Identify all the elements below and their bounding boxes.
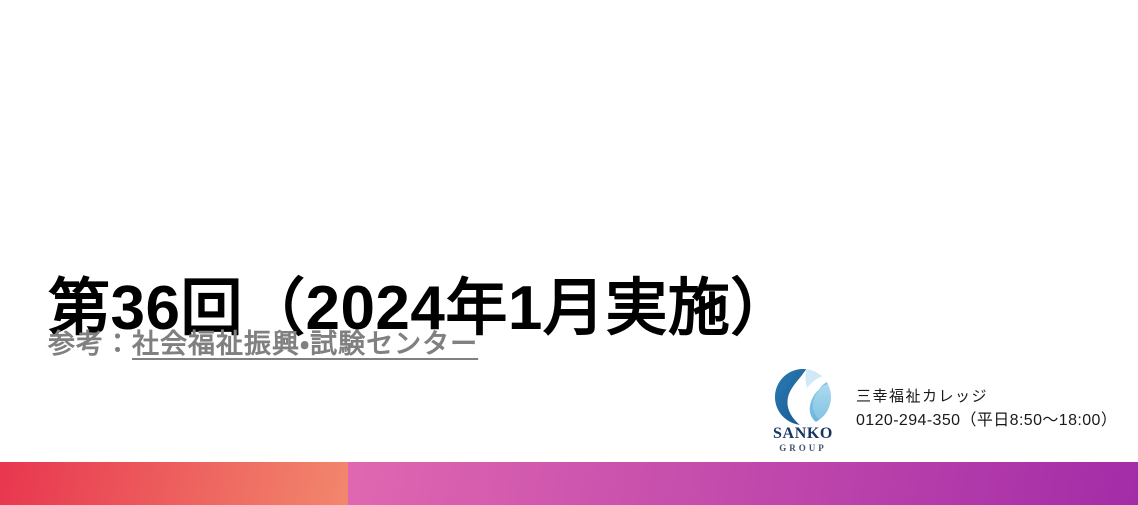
brand-wordmark-secondary: GROUP <box>762 444 844 453</box>
brand-wordmark-primary: SANKO <box>762 426 844 442</box>
brand-wordmark: SANKO GROUP <box>762 426 844 453</box>
slide-root: 第36回（2024年1月実施） 介護福祉士国家試験 試験情報 参考：社会福祉振興… <box>0 0 1138 505</box>
reference-line: 参考：社会福祉振興・試験センター <box>48 322 478 361</box>
brand-logo: SANKO GROUP <box>762 368 844 452</box>
brand-phone: 0120-294-350（平日8:50〜18:00） <box>856 409 1117 432</box>
reference-label: 参考： <box>48 329 132 359</box>
accent-bar-segment-red-orange <box>0 462 348 505</box>
accent-bar-segment-pink-purple <box>348 462 1138 505</box>
accent-bar <box>0 462 1138 505</box>
brand-contact: 三幸福祉カレッジ 0120-294-350（平日8:50〜18:00） <box>856 368 1117 432</box>
reference-source-link[interactable]: 社会福祉振興・試験センター <box>132 329 478 359</box>
brand-block: SANKO GROUP 三幸福祉カレッジ 0120-294-350（平日8:50… <box>762 368 1117 452</box>
brand-name: 三幸福祉カレッジ <box>856 386 1117 409</box>
sanko-wave-logo-icon <box>767 368 839 426</box>
